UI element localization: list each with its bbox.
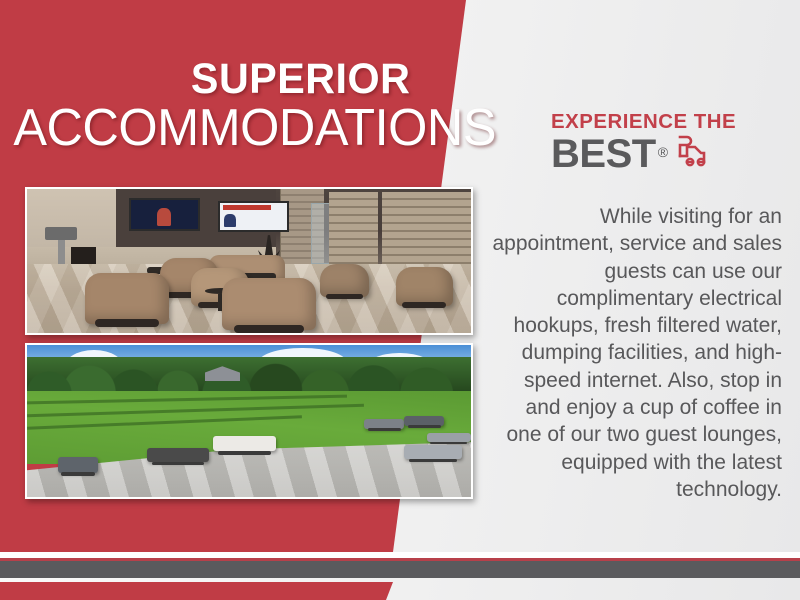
motorhome-2 [147, 448, 209, 462]
rv-motorhome-icon [674, 133, 708, 172]
poster-canvas: SUPERIOR ACCOMMODATIONS [0, 0, 800, 600]
parked-vehicle-5 [404, 416, 444, 425]
stone-wall-panel-2 [382, 192, 471, 267]
lounge-chair-1 [85, 273, 169, 325]
rv-lot-photo-artwork [27, 345, 471, 497]
guest-lounge-photo-artwork [27, 189, 471, 333]
lounge-chair-6 [396, 267, 454, 306]
lounge-chair-4 [222, 278, 315, 330]
parked-vehicle-7 [427, 433, 471, 442]
wall-television-right [218, 201, 289, 233]
experience-the-best-logo: EXPERIENCE THE BEST ® [551, 112, 787, 173]
logo-wordmark: BEST [551, 136, 656, 173]
tree-line [27, 357, 471, 393]
bottom-gray-bar [0, 561, 800, 578]
bottom-red-bar [0, 582, 800, 600]
headline-line-2: ACCOMMODATIONS [13, 103, 444, 154]
motorhome-3 [213, 436, 275, 451]
body-copy: While visiting for an appointment, servi… [492, 203, 782, 503]
headline-line-1: SUPERIOR [18, 58, 444, 101]
parked-vehicle-4 [364, 419, 404, 428]
motorhome-6 [404, 445, 462, 459]
registered-trademark-symbol: ® [658, 145, 668, 159]
guest-lounge-photo [25, 187, 473, 335]
logo-wordmark-row: BEST ® [551, 133, 787, 173]
page-title: SUPERIOR ACCOMMODATIONS [0, 58, 444, 154]
lounge-chair-5 [320, 264, 369, 297]
rv-lot-photo [25, 343, 473, 499]
wall-television-left [129, 198, 200, 231]
logo-tagline: EXPERIENCE THE [551, 112, 792, 132]
parked-vehicle-1 [58, 457, 98, 472]
stone-wall-panel-1 [329, 192, 378, 267]
